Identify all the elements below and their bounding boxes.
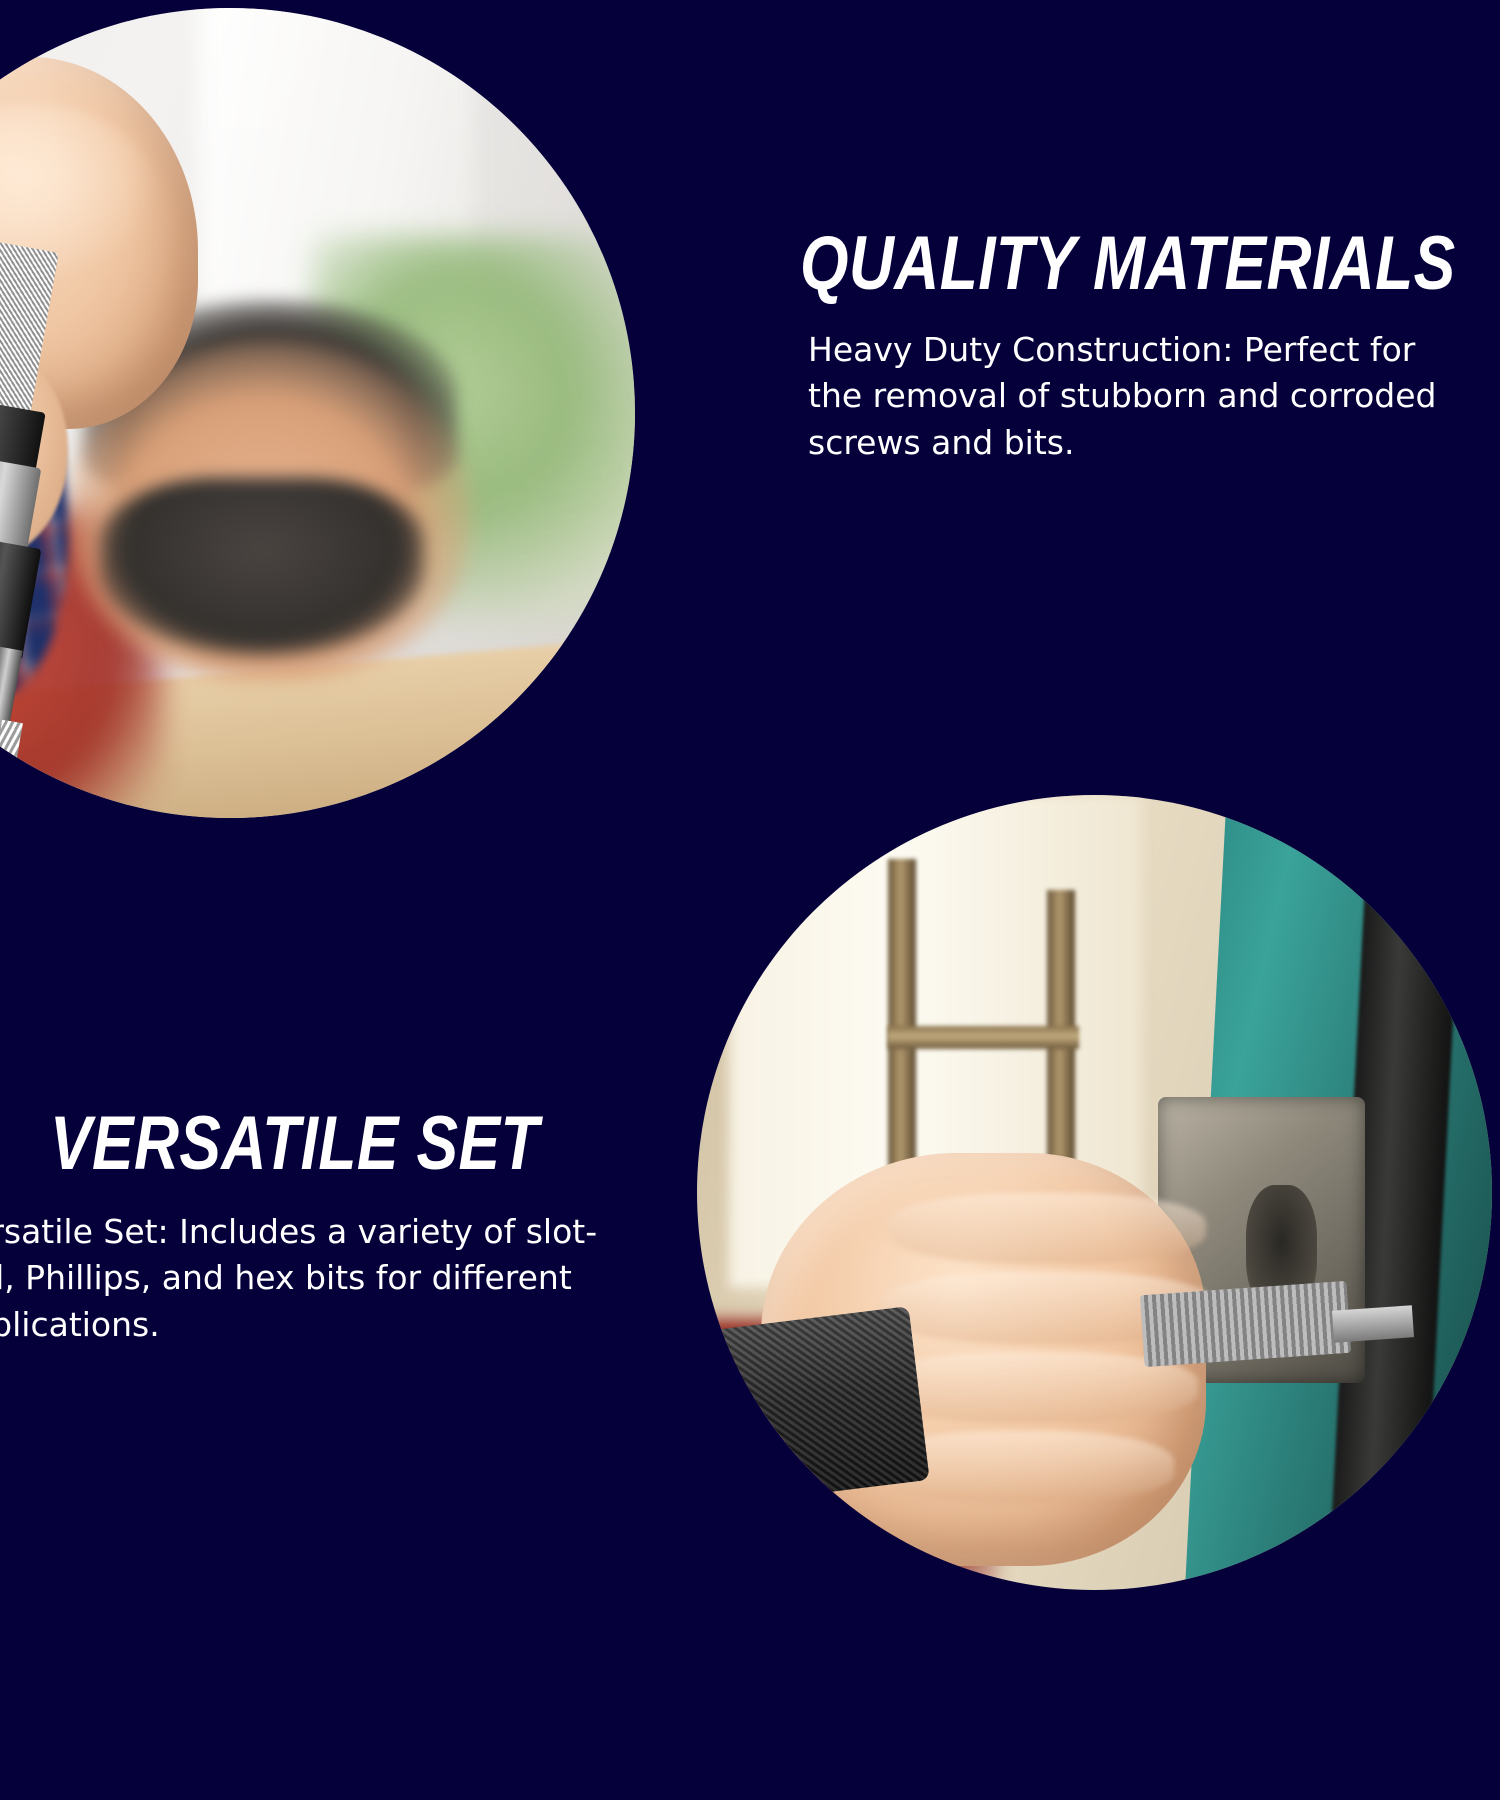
versatile-set-body-line: Versatile Set: Includes a variety of slo… xyxy=(0,1209,646,1256)
man-using-impact-driver-photo xyxy=(0,8,635,818)
feature-block-quality-materials: QUALITY MATERIALS Heavy Duty Constructio… xyxy=(800,225,1500,467)
hand-tool-on-vehicle-door-photo xyxy=(697,795,1492,1590)
versatile-set-body-line: applications. xyxy=(0,1302,646,1349)
photo2-scaffold-crossbar xyxy=(888,1026,1079,1050)
quality-materials-body-line: screws and bits. xyxy=(808,420,1500,467)
photo2-tool-metal-body xyxy=(1140,1281,1351,1367)
product-feature-poster: QUALITY MATERIALS Heavy Duty Constructio… xyxy=(0,0,1500,1800)
versatile-set-body-line: ted, Phillips, and hex bits for differen… xyxy=(0,1255,646,1302)
photo2-finger xyxy=(888,1193,1206,1265)
quality-materials-headline: QUALITY MATERIALS xyxy=(800,225,1456,303)
photo-man-beard xyxy=(100,478,424,656)
versatile-set-headline: VERSATILE SET xyxy=(50,1105,539,1183)
feature-block-versatile-set: VERSATILE SET Versatile Set: Includes a … xyxy=(50,1105,646,1349)
photo2-tool-tip xyxy=(1332,1305,1414,1342)
photo2-tool-grip xyxy=(697,1306,929,1509)
quality-materials-body-line: Heavy Duty Construction: Perfect for xyxy=(808,327,1500,374)
quality-materials-body-line: the removal of stubborn and corroded xyxy=(808,373,1500,420)
quality-materials-body: Heavy Duty Construction: Perfect for the… xyxy=(808,327,1500,468)
versatile-set-body: Versatile Set: Includes a variety of slo… xyxy=(0,1209,646,1350)
